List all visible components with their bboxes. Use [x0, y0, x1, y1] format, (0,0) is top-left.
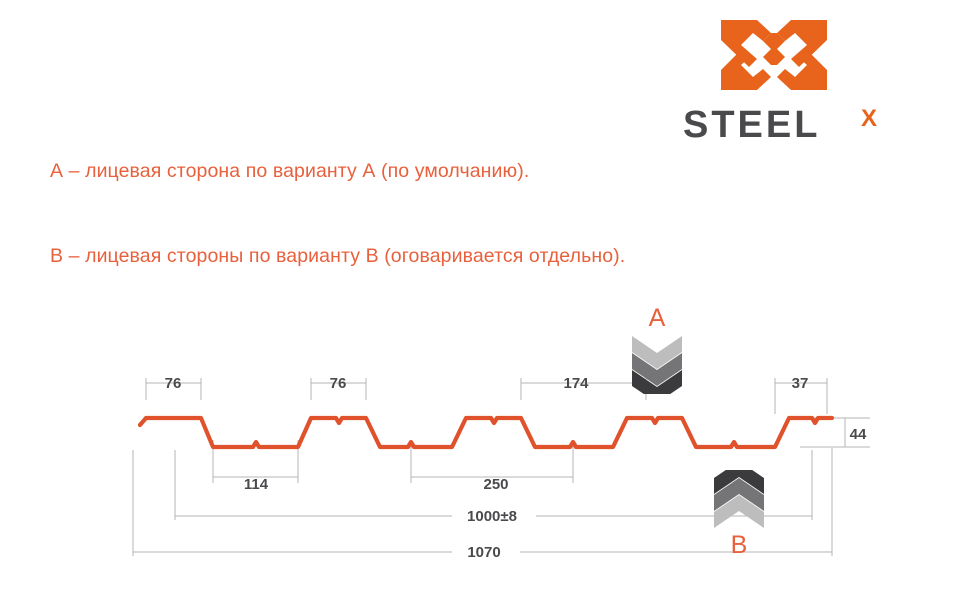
dim-label-76-mid: 76 [330, 375, 347, 392]
profile-polyline [140, 418, 832, 447]
chevron-up-icon [708, 470, 770, 528]
profile-technical-drawing: 76 76 174 37 114 250 1000±8 1070 44 [0, 0, 970, 597]
dim-label-174: 174 [563, 375, 589, 392]
dim-label-37: 37 [792, 375, 809, 392]
dim-label-1000-plusmn8: 1000±8 [467, 508, 517, 525]
dim-label-44: 44 [850, 426, 867, 443]
marker-side-b: B [708, 468, 770, 558]
marker-side-a: A [626, 306, 688, 396]
dim-label-114: 114 [244, 476, 269, 493]
drawing-page: STEEL X А – лицевая сторона по варианту … [0, 0, 970, 597]
dim-label-1070: 1070 [467, 544, 500, 561]
marker-b-letter: B [708, 533, 770, 558]
marker-a-letter: A [626, 306, 688, 331]
dim-label-250: 250 [483, 476, 508, 493]
dim-label-76-left: 76 [165, 375, 182, 392]
chevron-down-icon [626, 336, 688, 394]
